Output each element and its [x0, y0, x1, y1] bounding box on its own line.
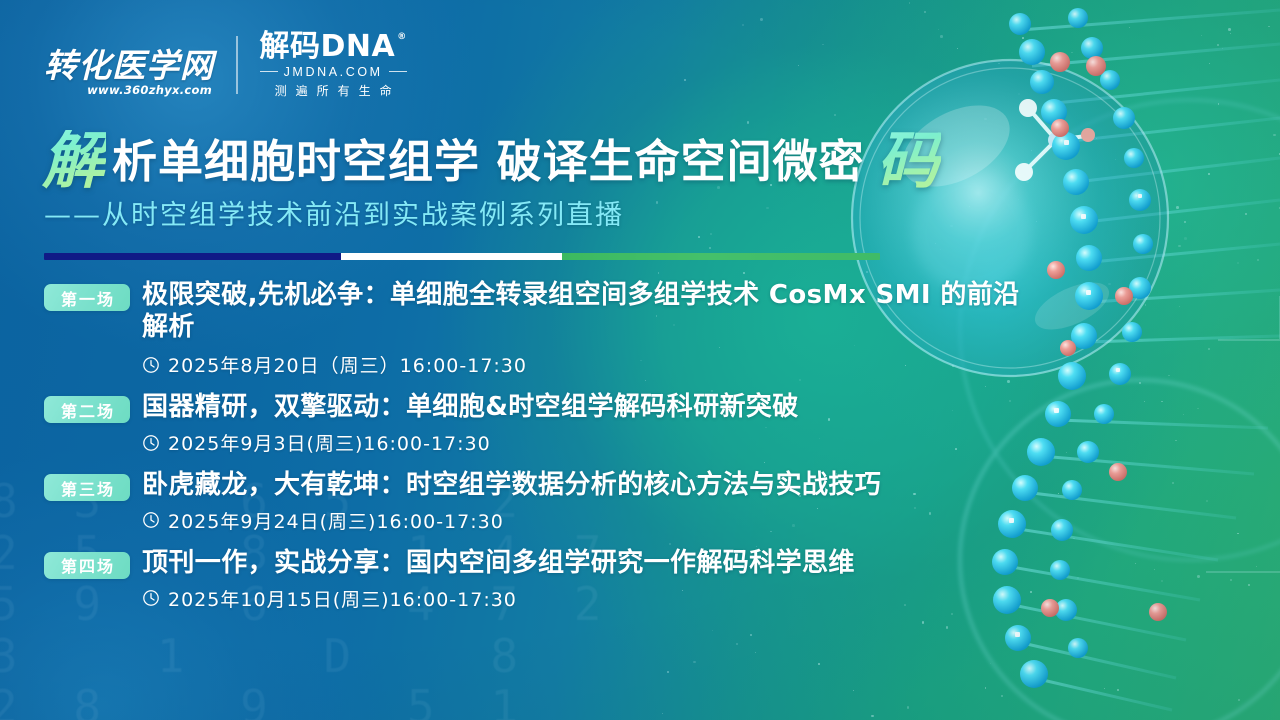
poster-stage: 8 3 6 5 2 2 5 8 1 4 7 5 9 6 4 7 2 3 1 D … [0, 0, 1280, 720]
background-vignette [0, 0, 1280, 720]
